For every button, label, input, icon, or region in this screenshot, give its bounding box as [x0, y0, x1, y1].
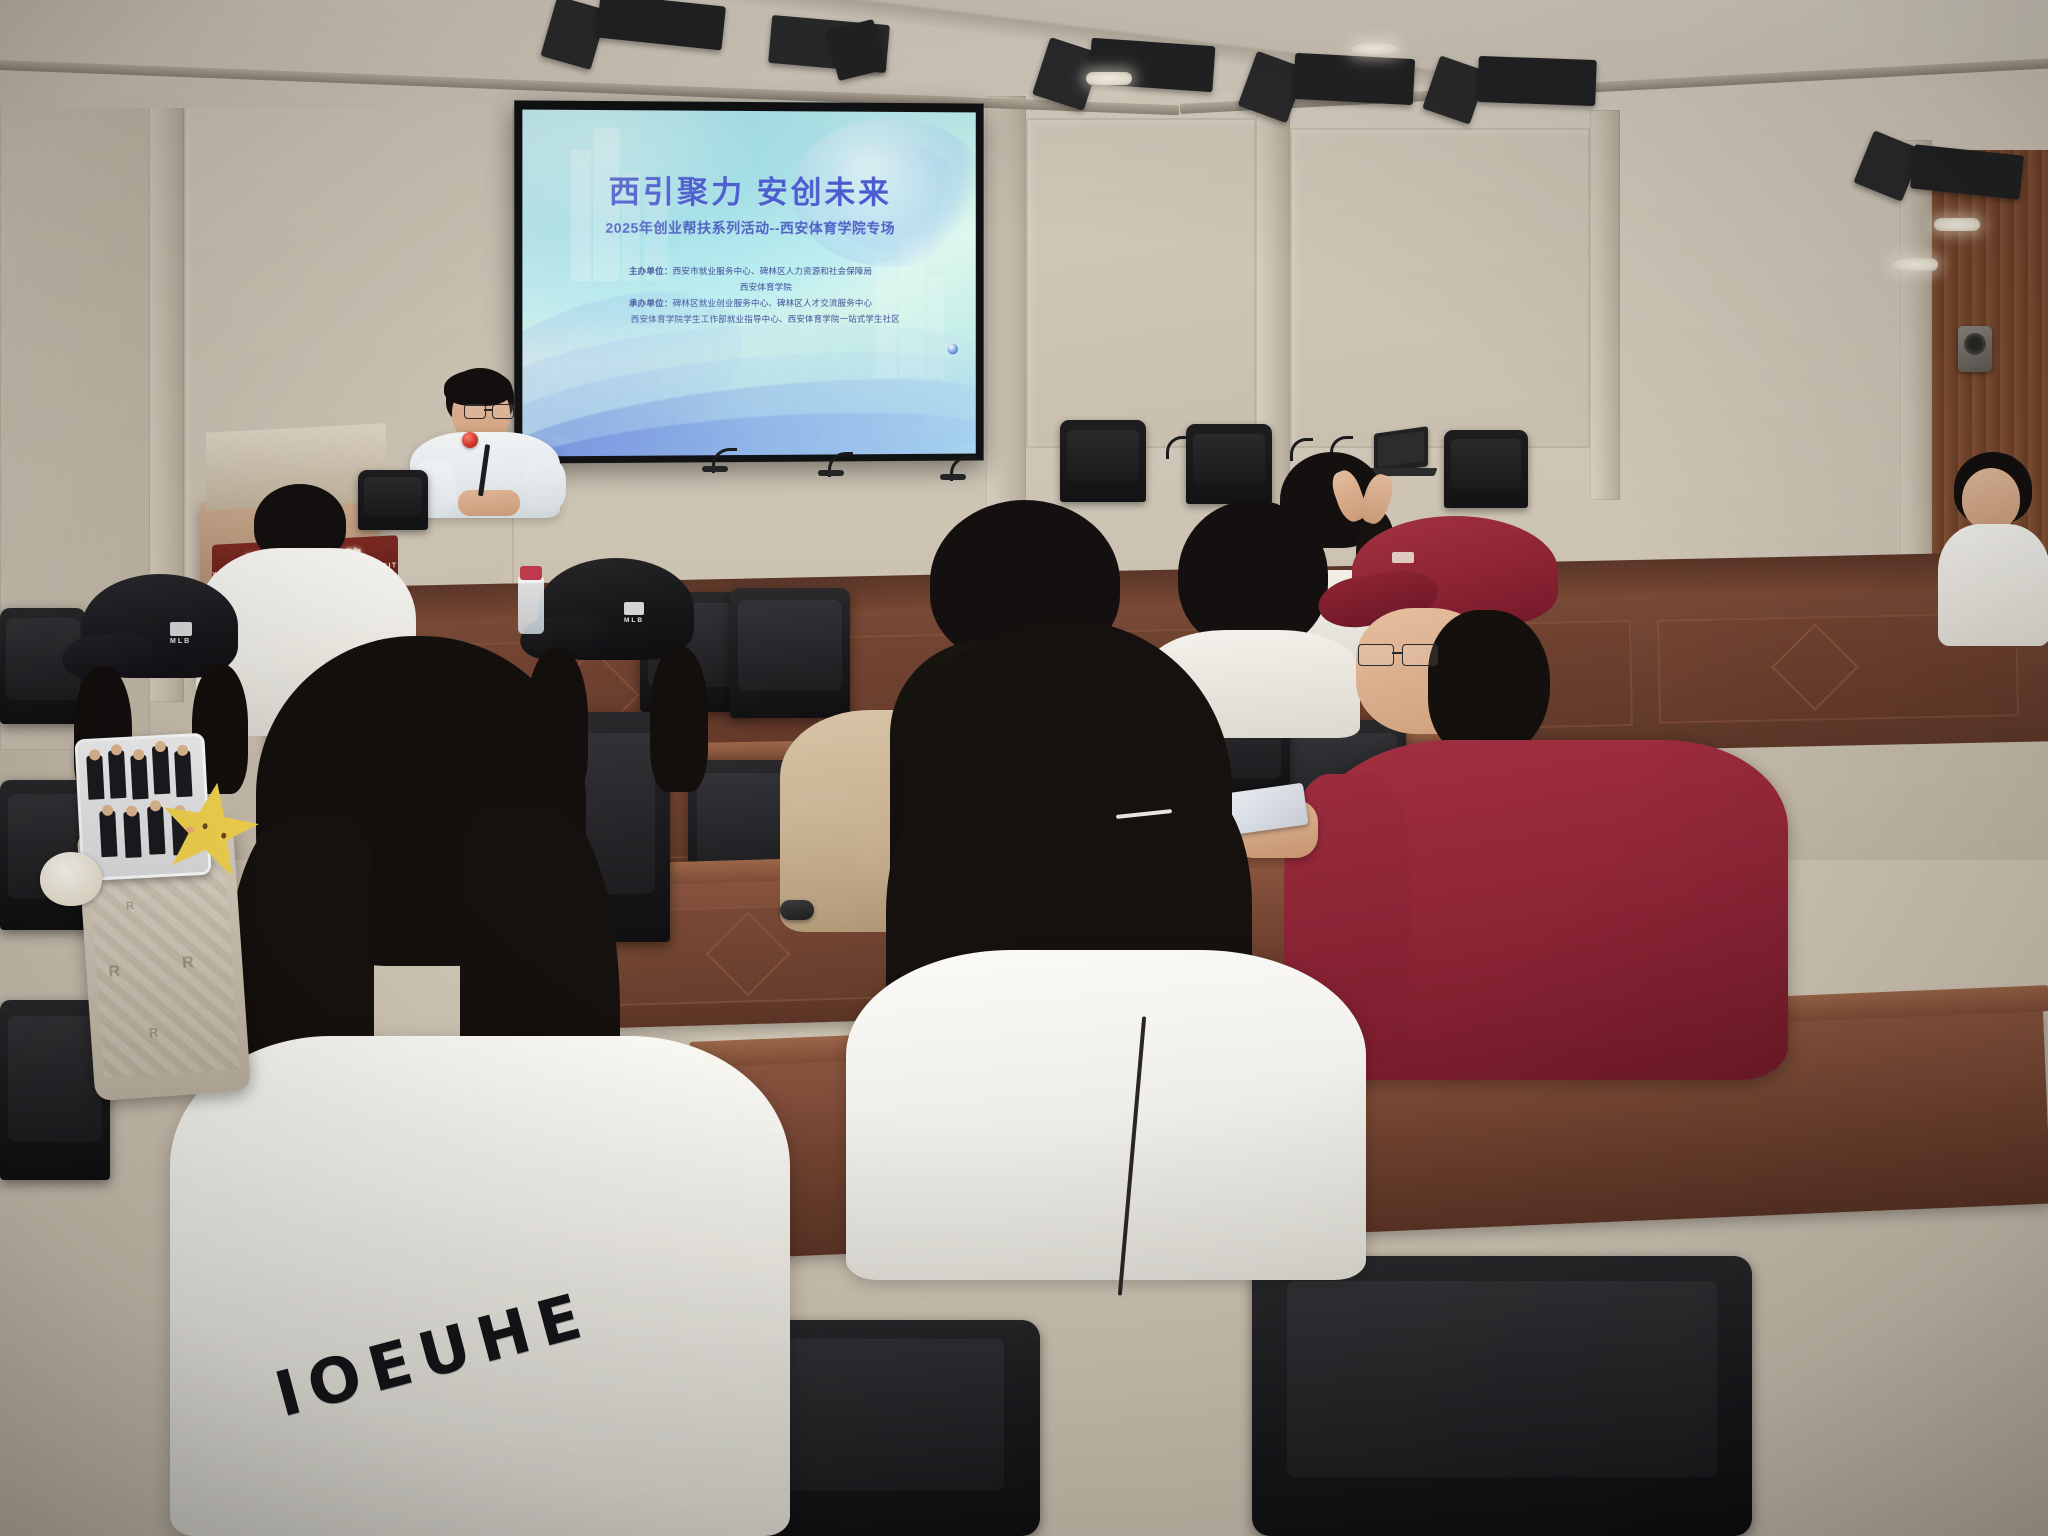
shirt-letter: O: [302, 1349, 367, 1414]
microphone-base: [818, 470, 844, 476]
audience-seat[interactable]: [1252, 1256, 1752, 1536]
photo-keychain-charm: [74, 733, 211, 882]
wall-panel-right-b: [1290, 128, 1590, 448]
wall-pilaster-far-right: [1900, 140, 1932, 580]
ceiling-downlight: [1892, 258, 1938, 271]
shirt-letter: U: [414, 1320, 476, 1384]
ceiling-downlight: [1352, 42, 1398, 55]
cap-logo-icon: [170, 622, 192, 636]
organizer-line-2: 西安体育学院: [740, 282, 792, 292]
wall-panel-right-a: [1026, 118, 1256, 448]
torso: [170, 1036, 790, 1536]
water-bottle[interactable]: [518, 576, 544, 634]
torso: [1938, 524, 2048, 646]
shirt-letter: E: [363, 1336, 418, 1398]
organizer-label: 主办单位：: [629, 266, 673, 276]
microphone-head: [462, 432, 478, 448]
glasses-icon: [464, 404, 516, 418]
ceiling-downlight: [1934, 218, 1980, 231]
bottle-cap: [520, 566, 542, 580]
projection-screen: 西引聚力 安创未来 2025年创业帮扶系列活动--西安体育学院专场 主办单位：西…: [514, 100, 983, 463]
person-speaker: [424, 368, 568, 508]
executive-chair: [1186, 424, 1272, 504]
speaker-arm-right: [524, 458, 566, 512]
conference-hall-photo: 西引聚力 安创未来 2025年创业帮扶系列活动--西安体育学院专场 主办单位：西…: [0, 0, 2048, 1536]
microphone-base: [940, 474, 966, 480]
screen-surface: 西引聚力 安创未来 2025年创业帮扶系列活动--西安体育学院专场 主办单位：西…: [522, 110, 975, 457]
crochet-charm: [40, 852, 102, 906]
slide-subtitle: 2025年创业帮扶系列活动--西安体育学院专场: [522, 217, 975, 238]
glasses-icon: [1358, 644, 1436, 666]
slide-title: 西引聚力 安创未来: [522, 166, 975, 213]
person-dark-top-woman: [1944, 452, 2048, 642]
microphone-base: [702, 466, 728, 472]
person-printed-shirt-foreground: [170, 636, 790, 1536]
slide-accent-dot: [947, 344, 958, 355]
torso: [846, 950, 1366, 1280]
speaker-hair-top: [444, 370, 512, 406]
executive-chair: [1060, 420, 1146, 502]
cap-tag-icon: [1392, 552, 1414, 563]
head: [1962, 468, 2020, 530]
person-white-jacket-foreground: [846, 620, 1366, 1280]
cap-logo-icon: [624, 602, 644, 615]
organizer-line-1: 西安市就业服务中心、碑林区人力资源和社会保障局: [673, 266, 873, 276]
hair: [1428, 610, 1550, 758]
speaker-hand: [458, 490, 520, 516]
wall-pilaster-screen-right: [986, 96, 1026, 516]
bench-hardware: [780, 900, 814, 920]
executive-chair: [1444, 430, 1528, 508]
shirt-letter: H: [472, 1304, 536, 1368]
wall-speaker: [1958, 326, 1992, 372]
stage-light: [1293, 53, 1415, 105]
stage-light: [1477, 56, 1597, 106]
wall-pilaster-right: [1590, 110, 1620, 500]
ceiling-downlight: [1086, 72, 1132, 85]
person-red-cap-man: [1318, 516, 1778, 1076]
